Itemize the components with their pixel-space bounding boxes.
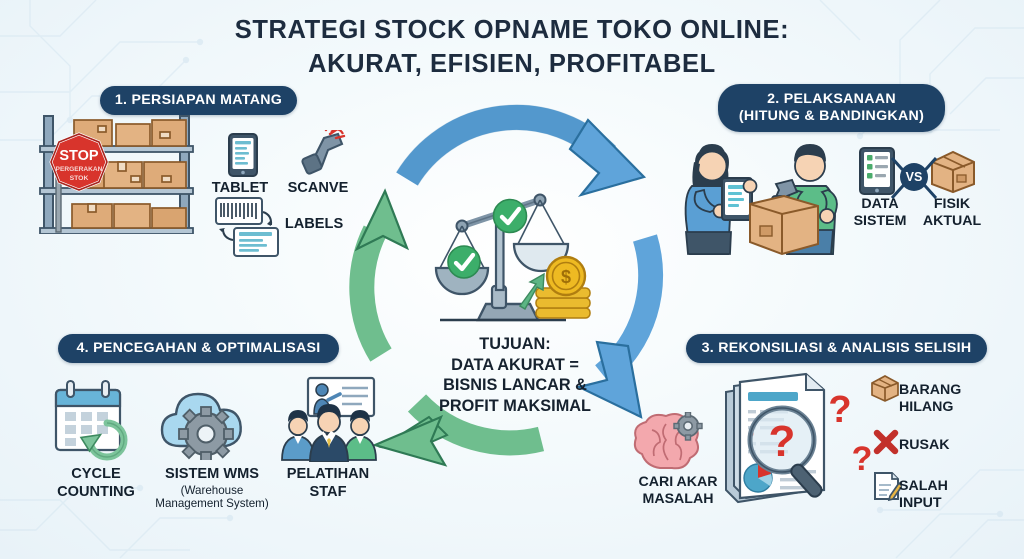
- caption-labels-label: LABELS: [285, 216, 343, 232]
- caption-salah-input: SALAH INPUT: [899, 478, 1004, 512]
- calendar-refresh-icon: [50, 378, 138, 462]
- vs-badge: VS: [900, 163, 928, 191]
- caption-barang-hilang-line2: HILANG: [899, 399, 1004, 416]
- caption-cycle-counting-line1: CYCLE: [44, 466, 148, 484]
- section-header-1[interactable]: 1. PERSIAPAN MATANG: [100, 86, 297, 115]
- caption-sistem-wms-sub2: Management System): [144, 497, 280, 511]
- caption-rusak-line1: RUSAK: [899, 437, 1004, 454]
- svg-text:$: $: [561, 267, 571, 287]
- audience-person-right: [344, 410, 376, 460]
- caption-data-sistem: DATA SISTEM: [845, 196, 915, 230]
- barcode-scanner-icon: [286, 130, 346, 178]
- document-pencil-icon: [872, 470, 902, 502]
- document-magnifier-icon: ? ? ?: [714, 366, 878, 504]
- check-icon-top: [494, 200, 527, 233]
- section-header-3[interactable]: 3. REKONSILIASI & ANALISIS SELISIH: [686, 334, 987, 363]
- section-header-1-label: 1. PERSIAPAN MATANG: [115, 92, 282, 109]
- stop-sign-line-3: STOK: [70, 175, 89, 182]
- caption-barang-hilang: BARANG HILANG: [899, 382, 1004, 416]
- caption-pelatihan-staf-line1: PELATIHAN: [274, 466, 382, 484]
- goal-line-4: PROFIT MAKSIMAL: [408, 396, 622, 417]
- section-header-2[interactable]: 2. PELAKSANAAN (HITUNG & BANDINGKAN): [718, 84, 945, 132]
- woman-with-tablet: [686, 144, 757, 254]
- section-header-2-label-line2: (HITUNG & BANDINGKAN): [739, 108, 924, 125]
- section-header-4[interactable]: 4. PENCEGAHAN & OPTIMALISASI: [58, 334, 339, 363]
- section-header-2-label-line1: 2. PELAKSANAAN: [739, 91, 924, 108]
- caption-scanner: SCANVE: [278, 180, 358, 198]
- goal-line-1: TUJUAN:: [408, 334, 622, 355]
- staff-counting-stock-icon: [672, 134, 852, 258]
- center-goal-text: TUJUAN: DATA AKURAT = BISNIS LANCAR & PR…: [408, 334, 622, 416]
- audience-person-left: [282, 410, 314, 460]
- caption-pelatihan-staf-line2: STAF: [274, 484, 382, 502]
- brain-with-gear-icon: [630, 412, 706, 474]
- goal-line-3: BISNIS LANCAR &: [408, 375, 622, 396]
- caption-sistem-wms-line1: SISTEM WMS: [144, 466, 280, 484]
- title-line-2: AKURAT, EFISIEN, PROFITABEL: [0, 48, 1024, 82]
- tablet-icon: [226, 132, 260, 178]
- caption-data-sistem-line1: DATA: [845, 196, 915, 213]
- gear-icon: [179, 407, 233, 460]
- caption-sistem-wms: SISTEM WMS (Warehouse Management System): [144, 466, 280, 511]
- question-mark-1: ?: [828, 389, 851, 431]
- warehouse-shelf-icon: STOP PERGERAKAN STOK: [14, 112, 204, 234]
- caption-fisik-aktual-line1: FISIK: [917, 196, 987, 213]
- vs-badge-label: VS: [906, 170, 923, 184]
- balance-scale-icon: $: [418, 178, 623, 330]
- stop-sign-line-2: PERGERAKAN: [56, 166, 103, 173]
- caption-tablet-label: TABLET: [212, 180, 268, 196]
- caption-data-sistem-line2: SISTEM: [845, 213, 915, 230]
- caption-cycle-counting: CYCLE COUNTING: [44, 466, 148, 501]
- red-cross-icon: [872, 428, 900, 456]
- svg-text:?: ?: [769, 417, 796, 466]
- cardboard-box-icon: [750, 196, 818, 254]
- page-title: STRATEGI STOCK OPNAME TOKO ONLINE: AKURA…: [0, 14, 1024, 82]
- staff-training-icon: [280, 376, 378, 462]
- title-line-1: STRATEGI STOCK OPNAME TOKO ONLINE:: [235, 16, 790, 44]
- question-mark-2: ?: [852, 440, 873, 478]
- caption-pelatihan-staf: PELATIHAN STAF: [274, 466, 382, 501]
- cloud-gear-icon: [158, 382, 254, 460]
- caption-sistem-wms-sub1: (Warehouse: [144, 484, 280, 498]
- caption-rusak: RUSAK: [899, 437, 1004, 454]
- caption-fisik-aktual-line2: AKTUAL: [917, 213, 987, 230]
- check-icon-pan: [448, 246, 480, 278]
- stop-sign-icon: STOP PERGERAKAN STOK: [51, 134, 107, 190]
- cardboard-box-icon-hilang: [870, 374, 900, 402]
- caption-fisik-aktual: FISIK AKTUAL: [917, 196, 987, 230]
- goal-line-2: DATA AKURAT =: [408, 355, 622, 376]
- green-arrow-left: [357, 191, 407, 355]
- caption-cycle-counting-line2: COUNTING: [44, 484, 148, 502]
- caption-barang-hilang-line1: BARANG: [899, 382, 1004, 399]
- caption-labels: LABELS: [274, 216, 354, 234]
- caption-tablet: TABLET: [207, 180, 273, 198]
- caption-scanner-label: SCANVE: [288, 180, 349, 196]
- stop-sign-line-1: STOP: [59, 148, 99, 164]
- caption-salah-input-line1: SALAH: [899, 478, 1004, 495]
- caption-salah-input-line2: INPUT: [899, 495, 1004, 512]
- section-header-3-label: 3. REKONSILIASI & ANALISIS SELISIH: [702, 340, 972, 357]
- section-header-4-label: 4. PENCEGAHAN & OPTIMALISASI: [76, 340, 320, 357]
- infographic-canvas: STRATEGI STOCK OPNAME TOKO ONLINE: AKURA…: [0, 0, 1024, 559]
